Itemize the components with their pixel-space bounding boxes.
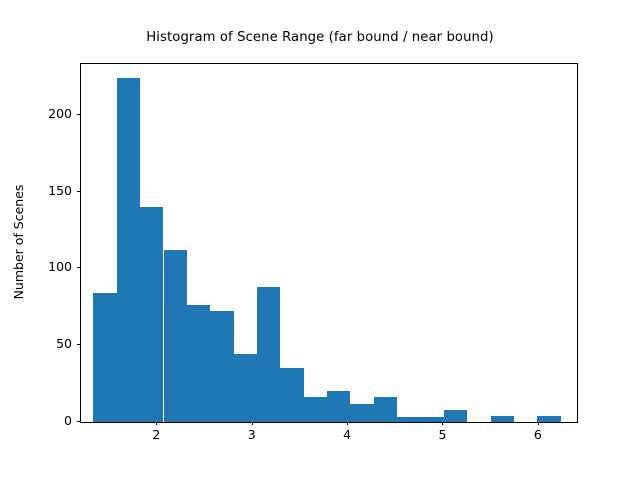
histogram-bar	[117, 78, 140, 422]
histogram-bar	[537, 416, 560, 422]
histogram-bar	[421, 417, 444, 422]
histogram-bar	[491, 416, 514, 422]
y-axis-tick-label: 200	[30, 106, 72, 121]
histogram-bar	[374, 397, 397, 422]
histogram-bar	[327, 391, 350, 422]
histogram-bar	[397, 417, 420, 422]
histogram-bar	[187, 305, 210, 422]
histogram-bar	[304, 397, 327, 422]
histogram-bar	[164, 250, 187, 422]
plot-area	[81, 64, 577, 422]
histogram-bar	[93, 293, 116, 422]
chart-title: Histogram of Scene Range (far bound / ne…	[0, 30, 640, 45]
x-axis-tick-label: 2	[136, 427, 176, 442]
plot-frame	[80, 63, 578, 423]
x-axis-tick-label: 6	[518, 427, 558, 442]
x-axis-tick-label: 5	[422, 427, 462, 442]
histogram-bar	[257, 287, 280, 422]
histogram-figure: Histogram of Scene Range (far bound / ne…	[0, 0, 640, 480]
histogram-bar	[140, 207, 163, 422]
histogram-bar	[350, 404, 373, 422]
histogram-bar	[280, 368, 303, 422]
histogram-bar	[210, 311, 233, 422]
histogram-bar	[234, 354, 257, 422]
x-axis-tick-label: 4	[327, 427, 367, 442]
x-axis-tick-label: 3	[232, 427, 272, 442]
y-axis-tick-label: 150	[30, 183, 72, 198]
y-axis-tick-label: 50	[30, 336, 72, 351]
y-axis-tick-label: 100	[30, 259, 72, 274]
histogram-bar	[444, 410, 467, 422]
y-axis-label: Number of Scenes	[11, 185, 26, 300]
y-axis-tick-label: 0	[30, 413, 72, 428]
